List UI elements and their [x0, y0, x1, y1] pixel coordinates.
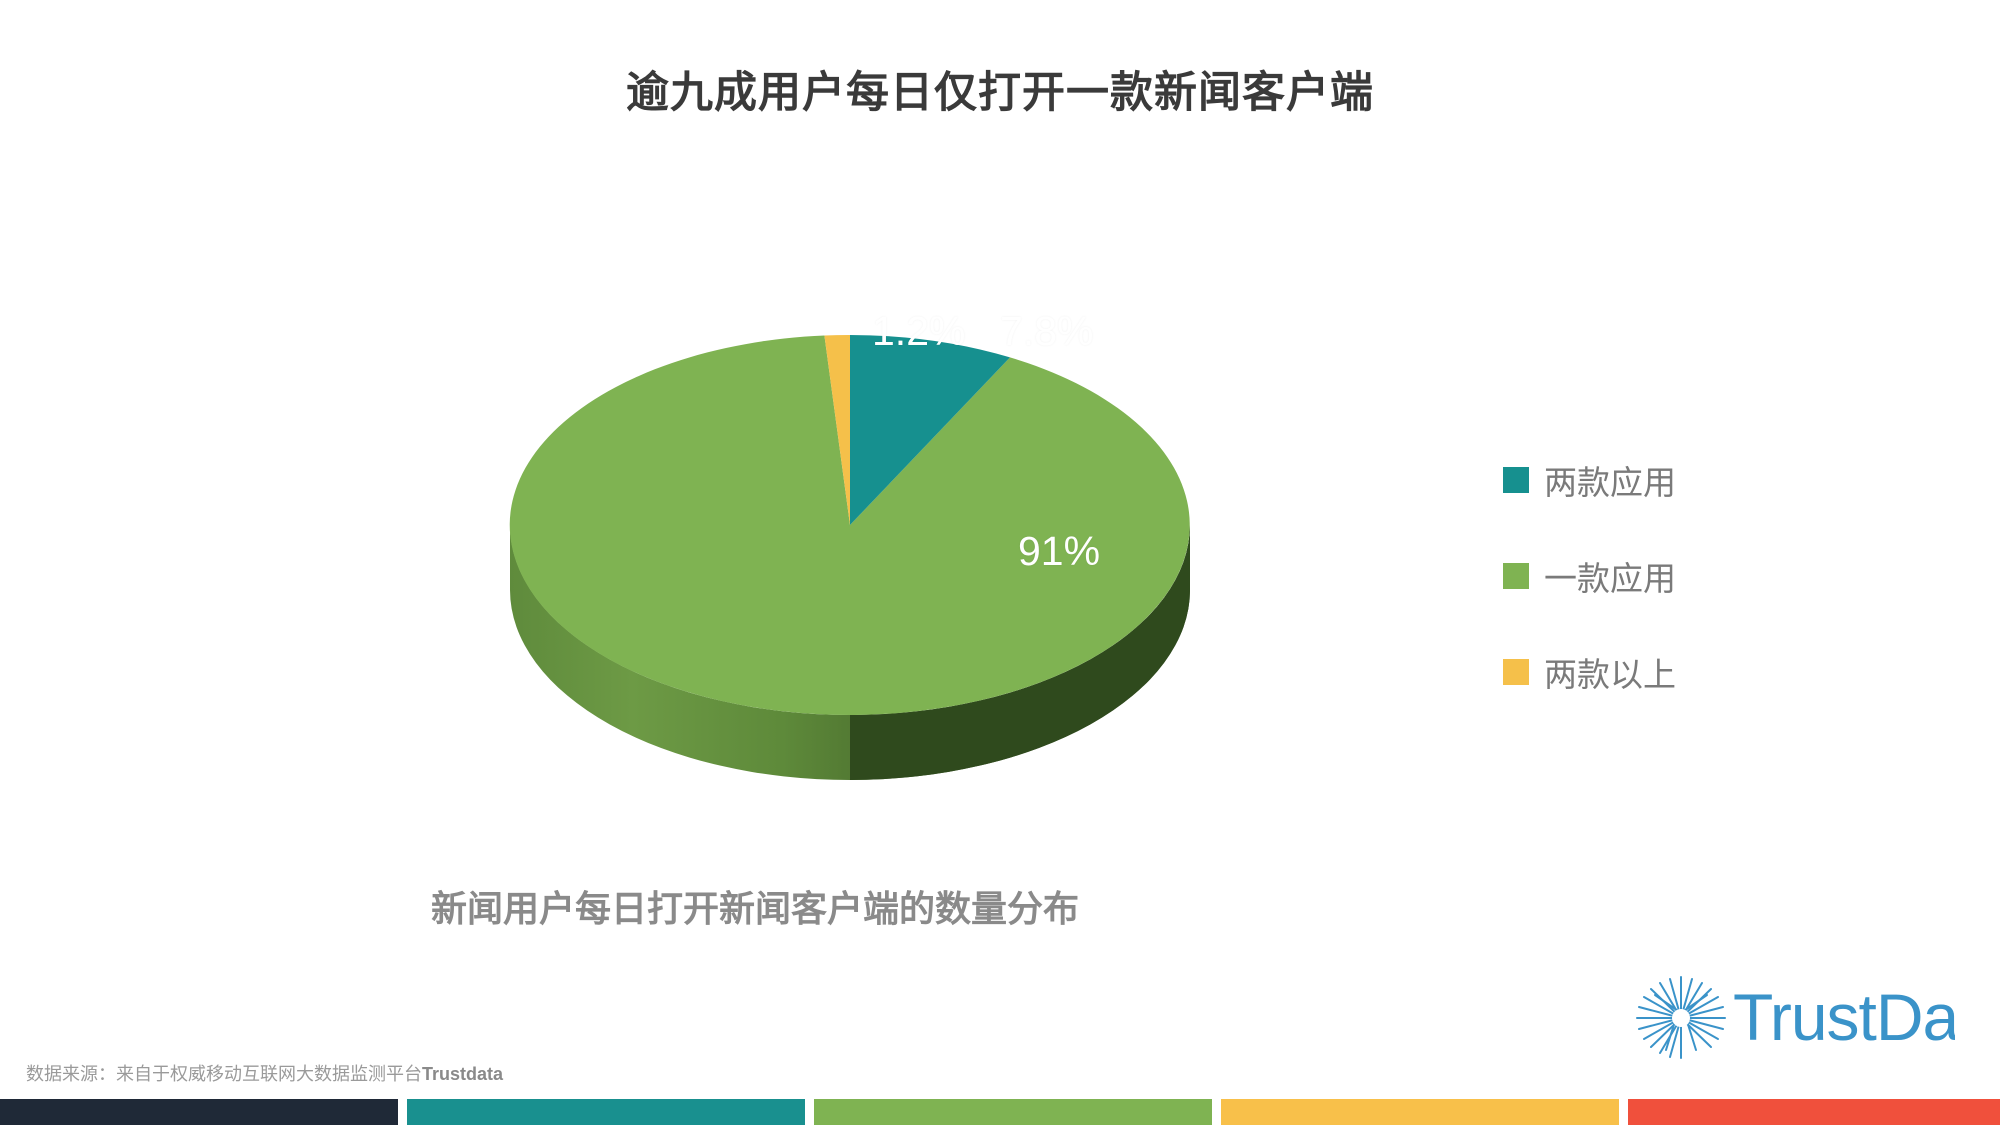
legend-item-two-apps[interactable]: 两款应用: [1503, 432, 1833, 528]
color-bar-segment-3: [814, 1099, 1212, 1125]
pie-label-over-two-apps: 1.2%: [872, 308, 965, 355]
legend-label: 一款应用: [1544, 552, 1676, 600]
color-bar-segment-2: [407, 1099, 805, 1125]
footer-color-bar: [0, 1099, 2000, 1125]
legend-label: 两款以上: [1544, 648, 1676, 696]
page-title: 逾九成用户每日仅打开一款新闻客户端: [0, 58, 2000, 120]
pie-label-two-apps: 7.8%: [1000, 308, 1093, 355]
legend-swatch-icon: [1503, 563, 1529, 589]
pie-label-one-app: 91%: [1018, 528, 1100, 575]
legend-swatch-icon: [1503, 467, 1529, 493]
sunburst-icon: [1637, 977, 1725, 1058]
color-bar-segment-5: [1628, 1099, 2000, 1125]
chart-legend: 两款应用 一款应用 两款以上: [1503, 432, 1833, 720]
trustdata-logo-svg: TrustData: [1625, 955, 1955, 1060]
chart-caption: 新闻用户每日打开新闻客户端的数量分布: [0, 880, 1510, 932]
trustdata-logo: TrustData: [1625, 955, 1955, 1060]
footer-source-prefix: 数据来源：来自于权威移动互联网大数据监测平台: [26, 1064, 422, 1084]
logo-wordmark: TrustData: [1733, 980, 1955, 1054]
legend-swatch-icon: [1503, 659, 1529, 685]
footer-source-brand: Trustdata: [422, 1064, 503, 1084]
color-bar-segment-1: [0, 1099, 398, 1125]
legend-label: 两款应用: [1544, 456, 1676, 504]
color-bar-segment-4: [1221, 1099, 1619, 1125]
legend-item-over-two-apps[interactable]: 两款以上: [1503, 624, 1833, 720]
legend-item-one-app[interactable]: 一款应用: [1503, 528, 1833, 624]
pie-top-face: [510, 335, 1190, 715]
footer-source-note: 数据来源：来自于权威移动互联网大数据监测平台Trustdata: [26, 1060, 503, 1086]
